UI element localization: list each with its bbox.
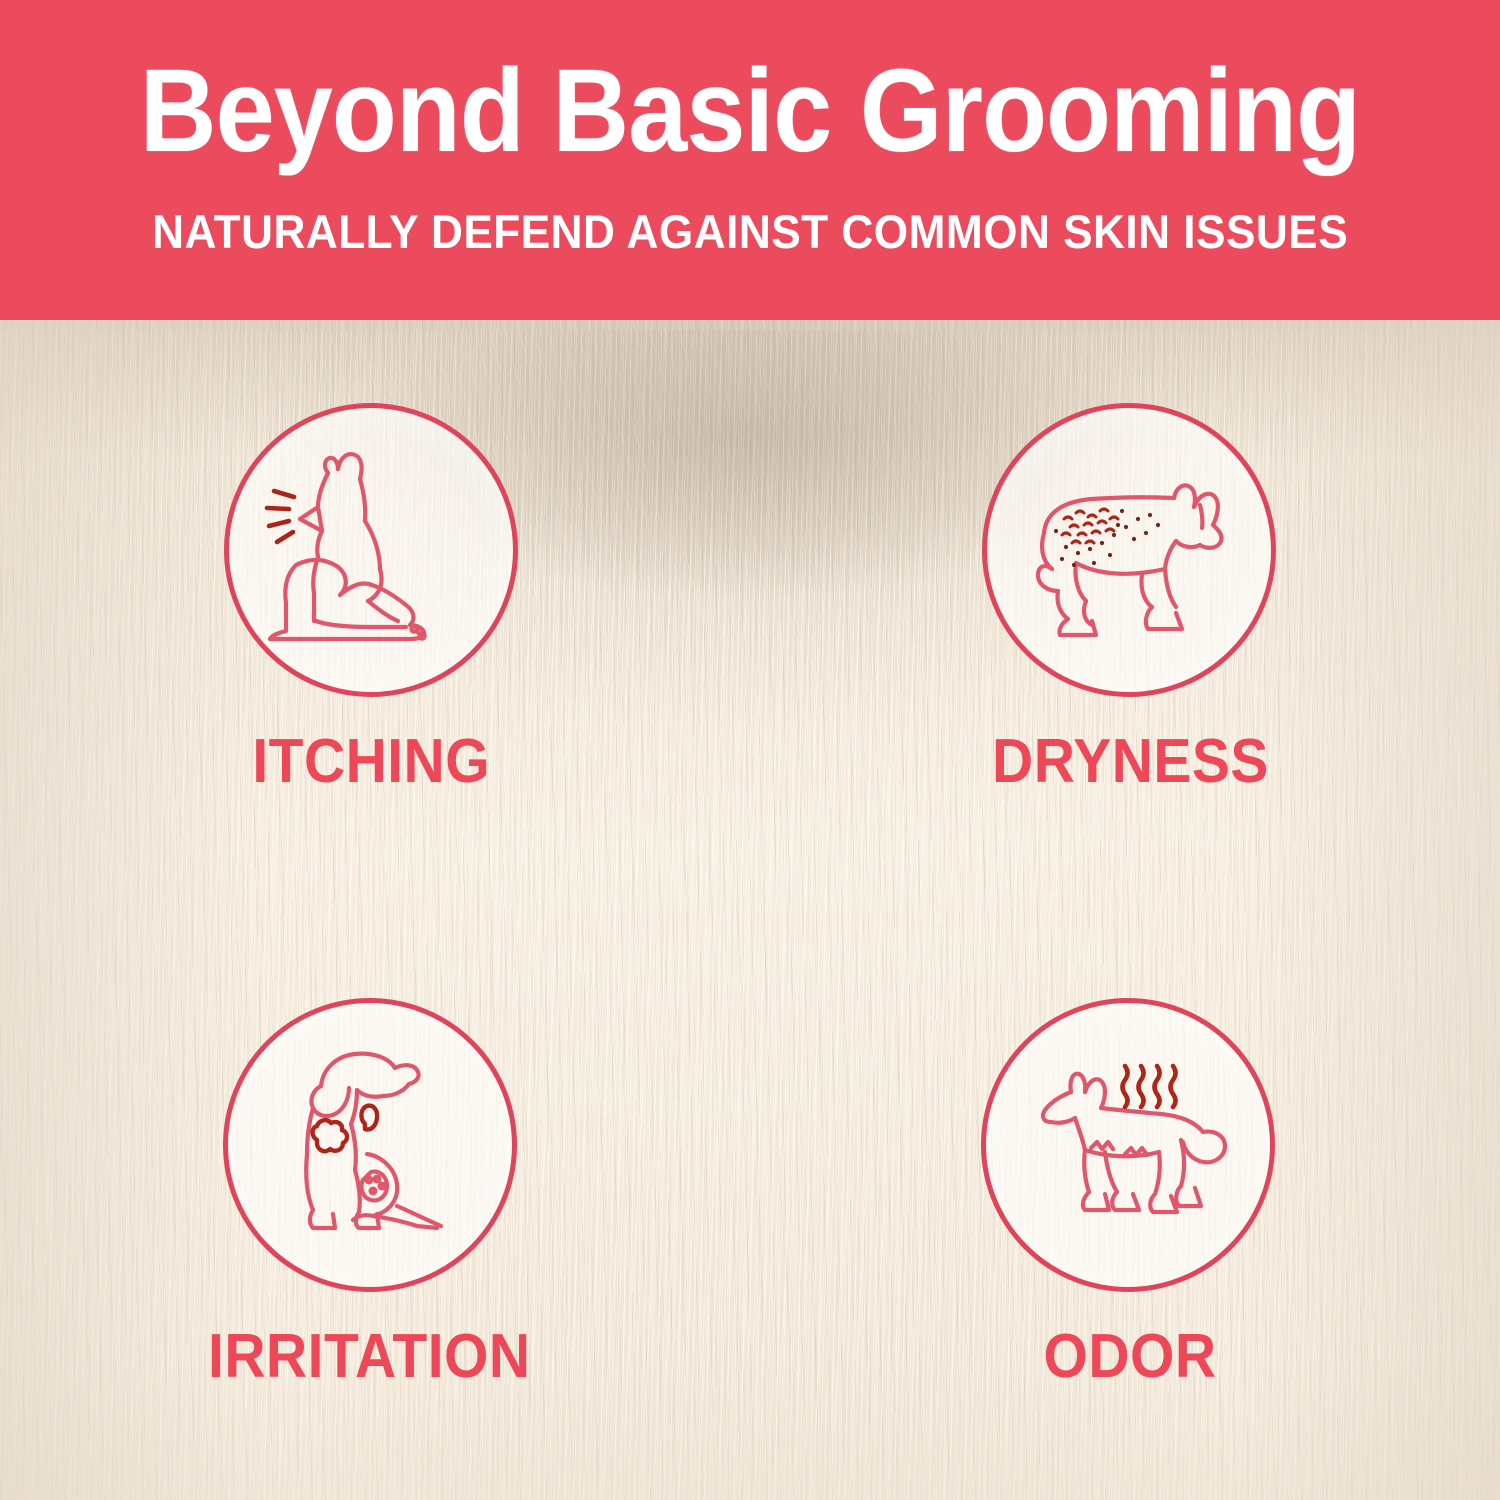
dandruff-flakes: [1062, 509, 1118, 543]
infographic-canvas: Beyond Basic Grooming NATURALLY DEFEND A…: [0, 0, 1500, 1500]
header-band: Beyond Basic Grooming NATURALLY DEFEND A…: [0, 0, 1500, 320]
dog-dry-skin-icon: [1014, 435, 1244, 665]
benefit-icon-grid: ITCHING: [0, 320, 1500, 1500]
benefit-item-irritation: IRRITATION: [0, 910, 750, 1500]
page-title: Beyond Basic Grooming: [140, 52, 1360, 170]
badge-circle-odor: [981, 998, 1275, 1292]
dog-irritated-skin-icon: [255, 1030, 485, 1260]
benefit-label-irritation: IRRITATION: [208, 1326, 531, 1388]
benefit-label-itching: ITCHING: [252, 731, 490, 793]
badge-circle-itching: [224, 403, 518, 697]
odor-lines: [1123, 1066, 1176, 1107]
page-subtitle: NATURALLY DEFEND AGAINST COMMON SKIN ISS…: [152, 208, 1348, 255]
dog-odor-icon: [1013, 1030, 1243, 1260]
itch-lines: [267, 491, 294, 542]
badge-circle-irritation: [223, 998, 517, 1292]
dog-scratching-icon: [256, 435, 486, 665]
irritation-patches: [313, 1106, 378, 1152]
badge-circle-dryness: [982, 403, 1276, 697]
benefit-label-odor: ODOR: [1044, 1326, 1217, 1388]
benefit-label-dryness: DRYNESS: [992, 731, 1269, 793]
benefit-item-odor: ODOR: [750, 910, 1500, 1500]
benefit-item-itching: ITCHING: [0, 320, 750, 910]
benefit-item-dryness: DRYNESS: [750, 320, 1500, 910]
